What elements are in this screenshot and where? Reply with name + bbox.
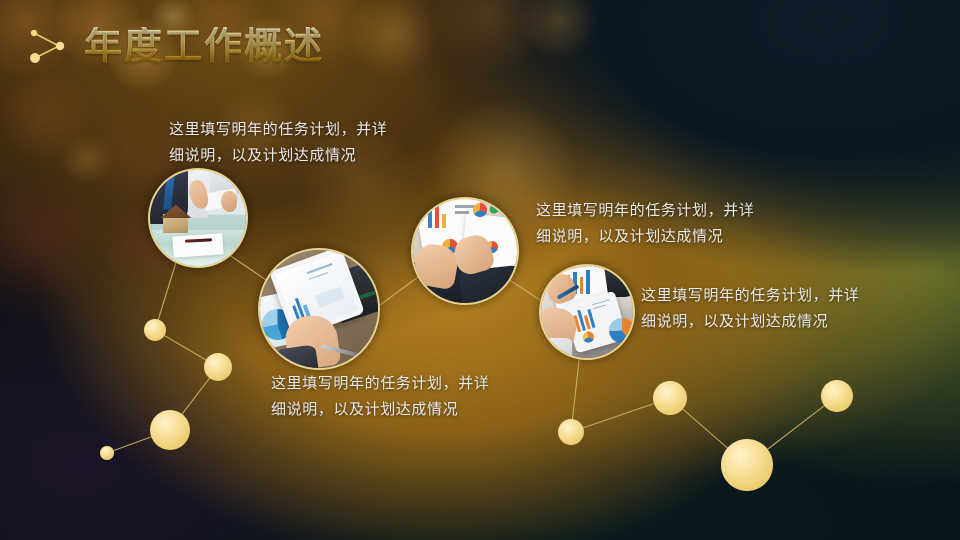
presentation-slide: 年度工作概述 — [0, 0, 960, 540]
slide-header: 年度工作概述 — [26, 26, 324, 66]
caption-1: 这里填写明年的任务计划，并详 细说明，以及计划达成情况 — [169, 116, 387, 168]
caption-4: 这里填写明年的任务计划，并详 细说明，以及计划达成情况 — [271, 370, 489, 422]
hands-holding-chart-report-photo — [413, 199, 517, 303]
caption-3: 这里填写明年的任务计划，并详 细说明，以及计划达成情况 — [641, 282, 859, 334]
caption-2: 这里填写明年的任务计划，并详 细说明，以及计划达成情况 — [536, 197, 754, 249]
photo-circle-4[interactable] — [539, 264, 635, 360]
hands-tablet-printed-charts-photo — [541, 266, 633, 358]
node-link-chevron-icon — [26, 26, 70, 66]
page-title: 年度工作概述 — [84, 27, 324, 65]
photo-circle-2[interactable] — [258, 248, 380, 370]
business-meeting-house-model-photo — [150, 170, 246, 266]
photo-circle-3[interactable] — [411, 197, 519, 305]
photo-circle-1[interactable] — [148, 168, 248, 268]
hand-tablet-dashboard-photo — [260, 250, 378, 368]
